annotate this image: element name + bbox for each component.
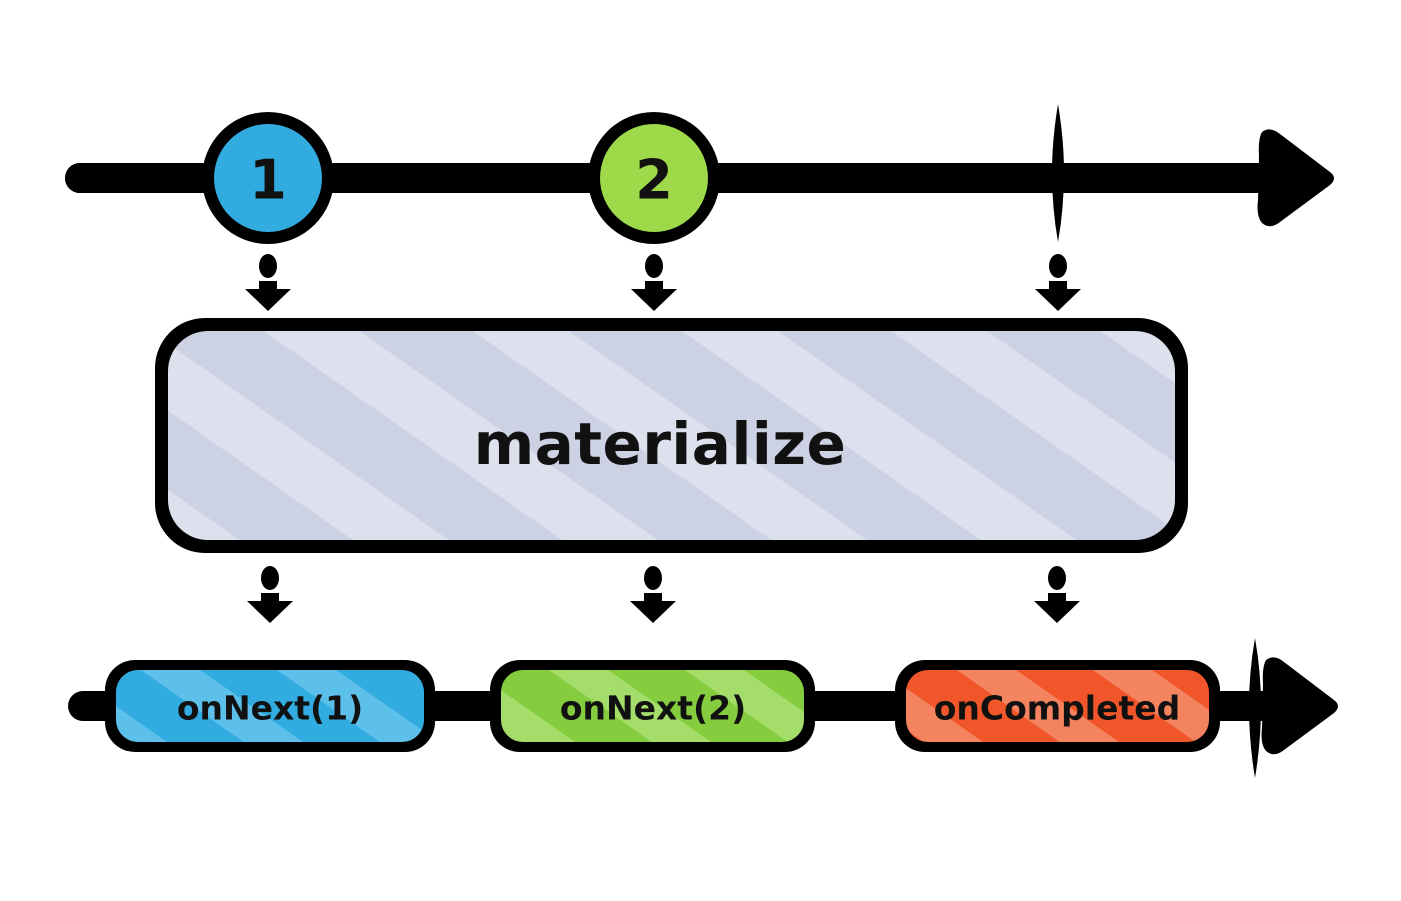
source-timeline-arrowhead xyxy=(1258,129,1335,226)
arrow-out-2-icon xyxy=(630,566,676,623)
onnext-2-label: onNext(2) xyxy=(560,689,746,728)
source-marble-1[interactable]: 1 xyxy=(202,112,334,244)
source-timeline: 1 2 xyxy=(65,104,1334,244)
notification-box-onnext-2[interactable]: onNext(2) xyxy=(490,660,815,752)
operator-box[interactable]: materialize xyxy=(155,318,1188,553)
oncompleted-label: onCompleted xyxy=(934,689,1181,728)
operator-label: materialize xyxy=(474,410,847,478)
marble-diagram-svg: 1 2 xyxy=(0,0,1401,901)
source-marble-2[interactable]: 2 xyxy=(588,112,720,244)
marble-diagram-canvas: 1 2 xyxy=(0,0,1401,901)
arrow-in-2-icon xyxy=(631,254,677,311)
marble-1-value: 1 xyxy=(249,149,287,212)
arrow-in-1-icon xyxy=(245,254,291,311)
source-complete-tick xyxy=(1052,104,1064,242)
result-timeline: onNext(1) onNext(2) onCompleted xyxy=(68,638,1338,778)
marble-2-value: 2 xyxy=(635,149,673,212)
notification-box-onnext-1[interactable]: onNext(1) xyxy=(105,660,435,752)
notification-box-oncompleted[interactable]: onCompleted xyxy=(895,660,1220,752)
result-timeline-arrowhead xyxy=(1262,657,1339,754)
flow-arrows-into-operator xyxy=(245,254,1081,311)
flow-arrows-out-of-operator xyxy=(247,566,1080,623)
source-line-left-cap xyxy=(65,163,95,193)
onnext-1-label: onNext(1) xyxy=(177,689,363,728)
arrow-out-1-icon xyxy=(247,566,293,623)
result-complete-tick xyxy=(1249,638,1261,778)
arrow-out-3-icon xyxy=(1034,566,1080,623)
arrow-in-complete-icon xyxy=(1035,254,1081,311)
